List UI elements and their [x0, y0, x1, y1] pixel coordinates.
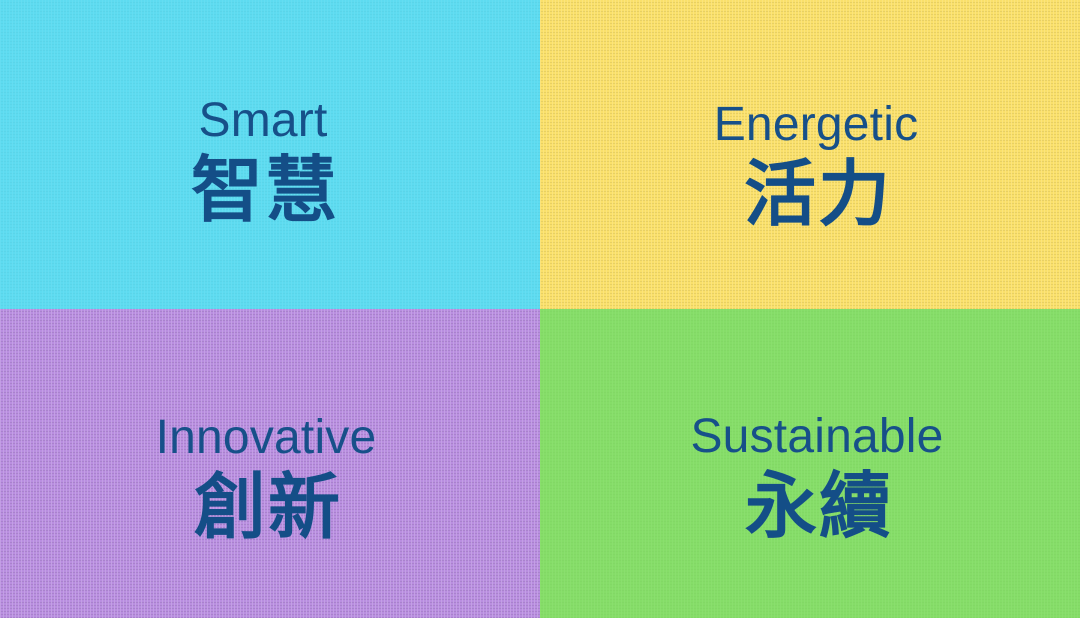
label-stack-energetic: Energetic 活力: [714, 98, 919, 234]
quadrant-smart[interactable]: Smart 智慧: [0, 0, 540, 309]
quadrant-energetic[interactable]: Energetic 活力: [540, 0, 1080, 309]
brand-values-board: Smart 智慧 Energetic 活力 Innovative 創新 Sust…: [0, 0, 1080, 618]
label-stack-sustainable: Sustainable 永續: [690, 410, 943, 546]
quadrant-label-en-sustainable: Sustainable: [690, 410, 943, 464]
quadrant-label-en-smart: Smart: [198, 94, 327, 148]
quadrant-label-en-energetic: Energetic: [714, 98, 919, 152]
quadrant-label-zh-sustainable: 永續: [741, 466, 893, 547]
quadrant-label-zh-innovative: 創新: [190, 467, 342, 548]
label-stack-smart: Smart 智慧: [187, 94, 339, 230]
quadrant-innovative[interactable]: Innovative 創新: [0, 309, 540, 618]
label-stack-innovative: Innovative 創新: [156, 411, 377, 547]
quadrant-label-en-innovative: Innovative: [156, 411, 377, 465]
quadrant-label-zh-energetic: 活力: [740, 154, 892, 235]
quadrant-sustainable[interactable]: Sustainable 永續: [540, 309, 1080, 618]
quadrant-label-zh-smart: 智慧: [187, 150, 339, 231]
